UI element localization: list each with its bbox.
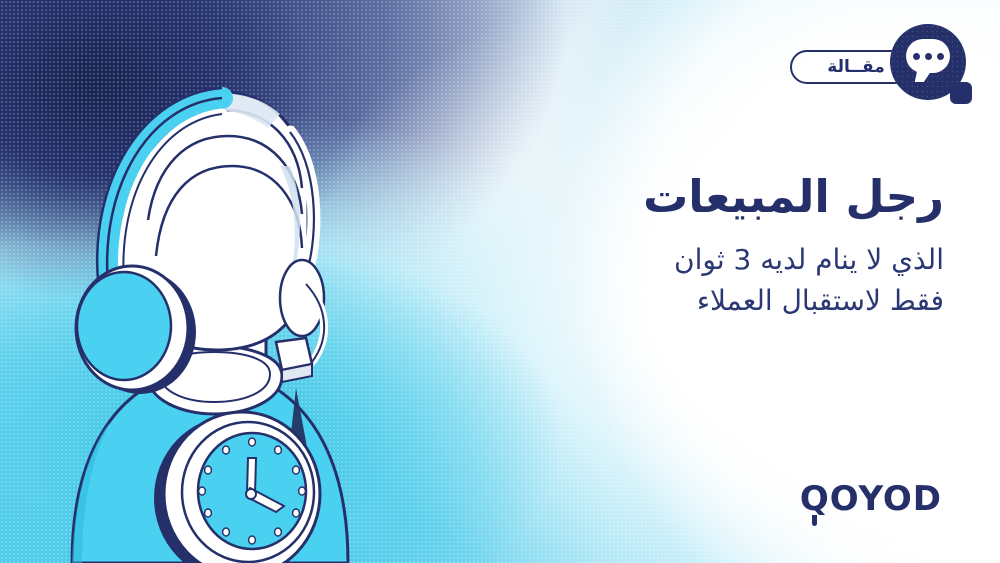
logo-q: Q [800, 479, 830, 519]
subtitle-line-1: الذي لا ينام لديه 3 ثوان [384, 240, 944, 281]
promo-banner: مقــالة رجل المبيعات الذي لا ينام لديه 3… [0, 0, 1000, 563]
article-badge[interactable]: مقــالة [790, 24, 976, 110]
text-block: رجل المبيعات الذي لا ينام لديه 3 ثوان فق… [384, 172, 944, 322]
illustration-call-center-agent [44, 70, 414, 563]
subtitle-line-2: فقط لاستقبال العملاء [384, 281, 944, 322]
logo-rest: OYOD [830, 479, 942, 519]
qoyod-logo: QOYOD [800, 479, 942, 519]
page-title: رجل المبيعات [384, 172, 944, 222]
speech-bubble-icon [890, 24, 976, 110]
